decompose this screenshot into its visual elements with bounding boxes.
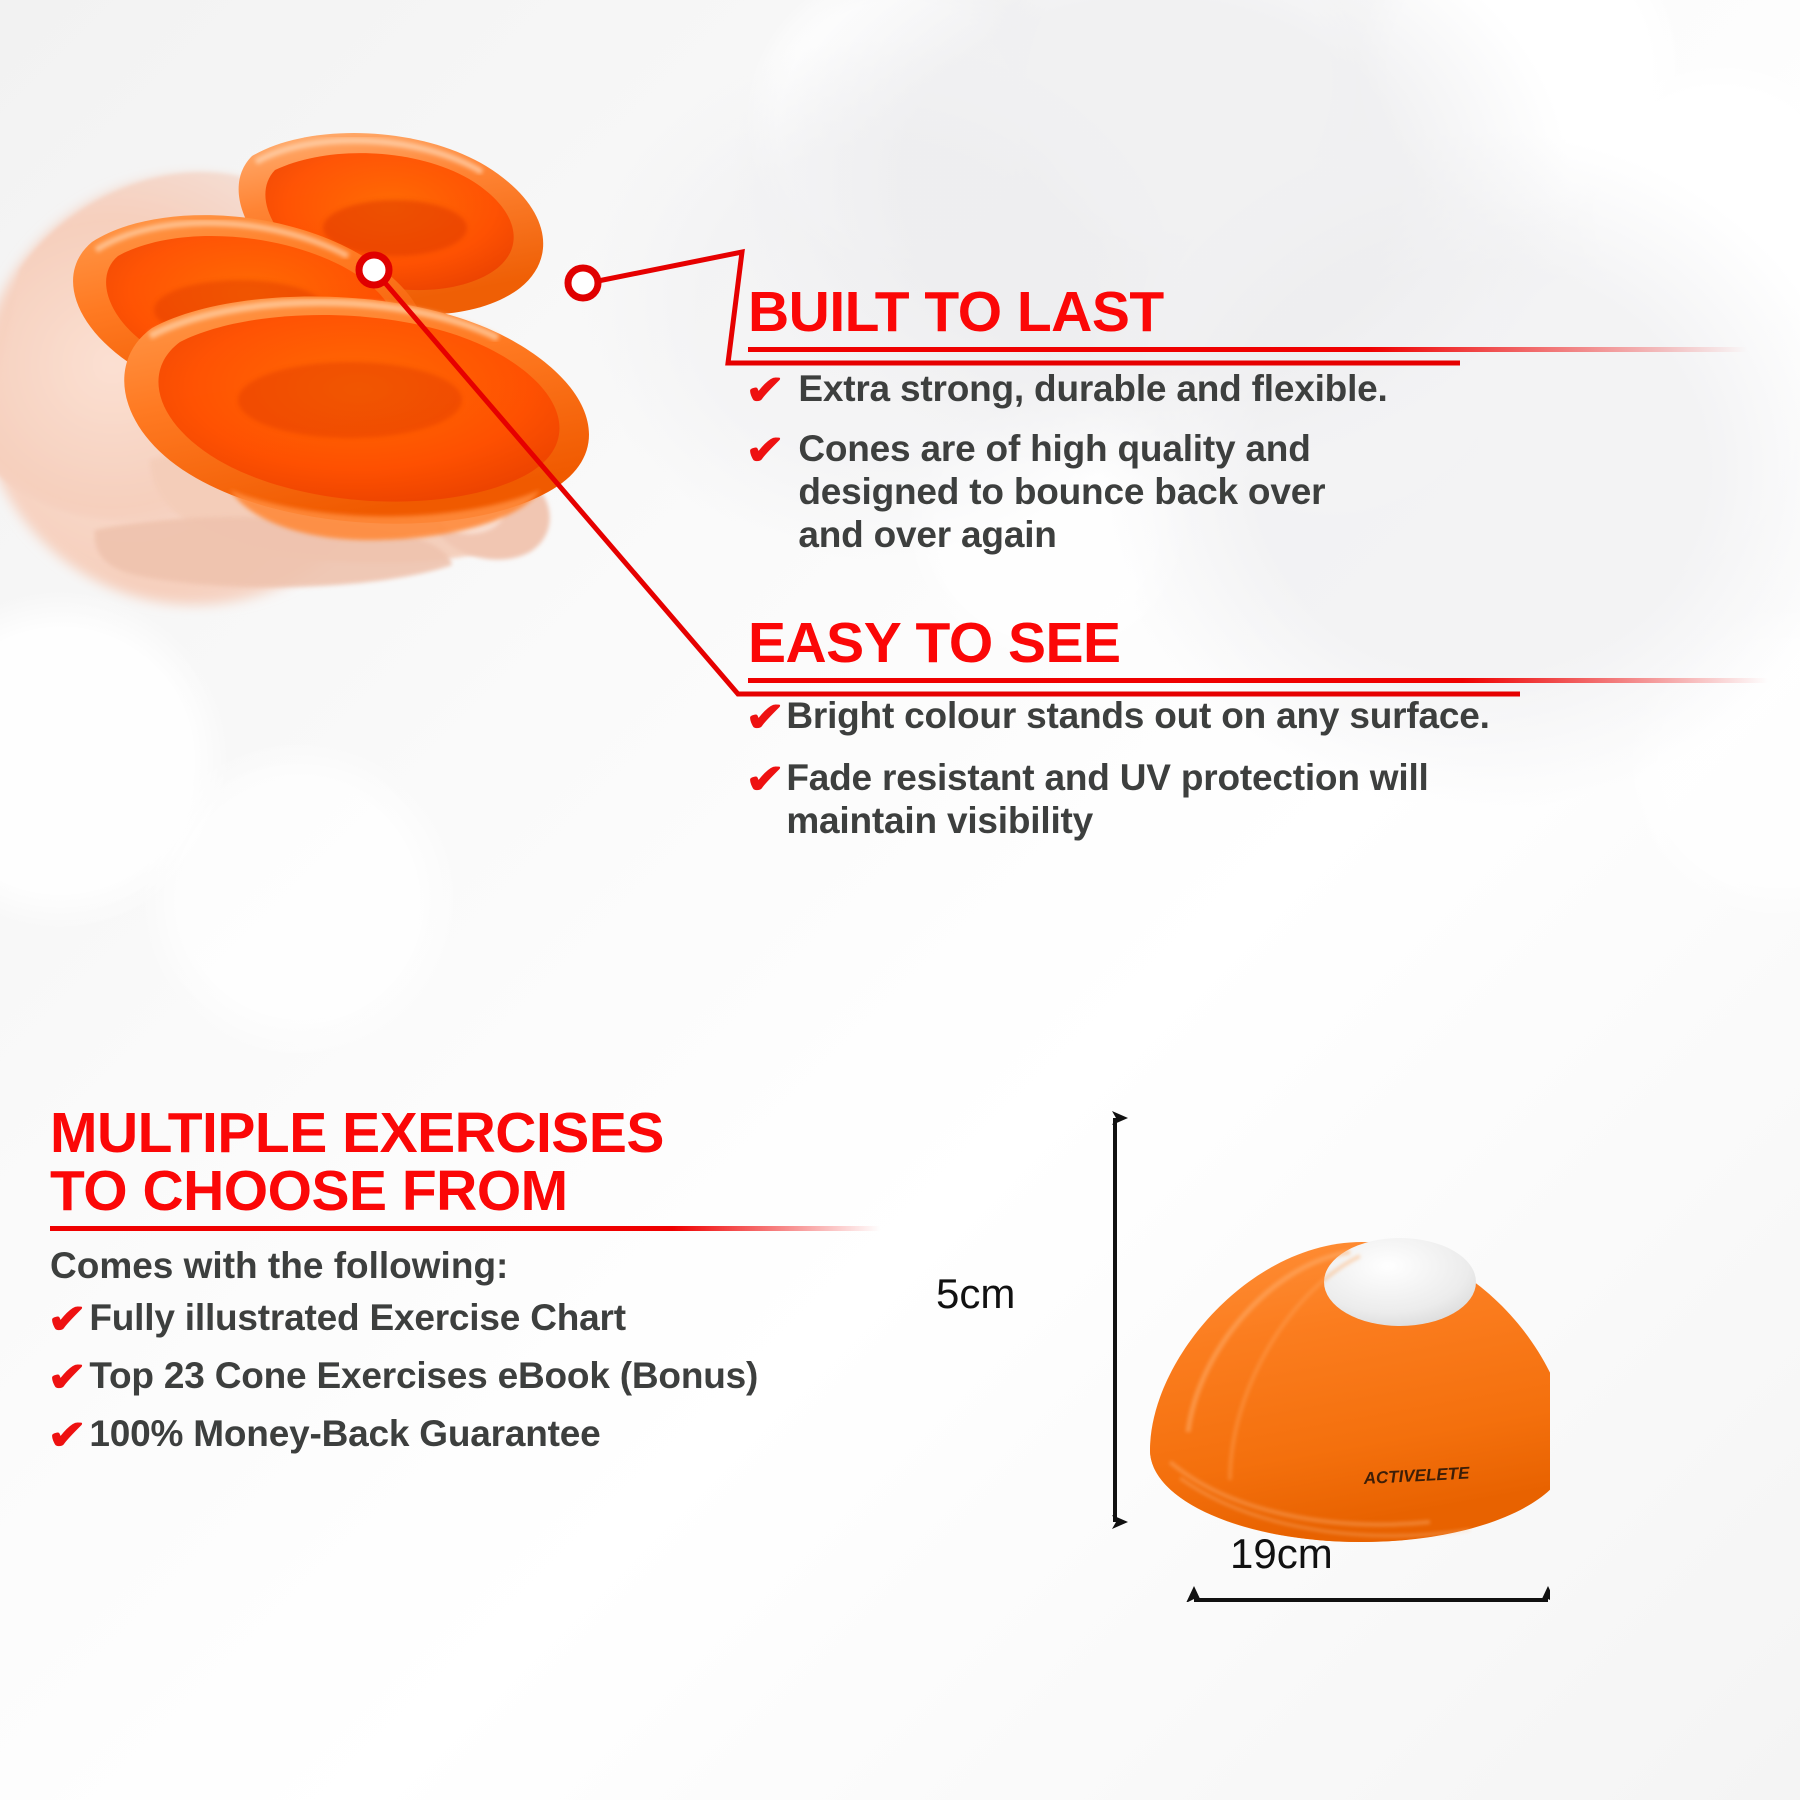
list-item-label: Fade resistant and UV protection will ma… — [786, 757, 1476, 843]
list-item: ✔ Extra strong, durable and flexible. — [748, 368, 1748, 414]
list-item: ✔ Bright colour stands out on any surfac… — [748, 695, 1768, 741]
list-item: ✔ Fully illustrated Exercise Chart — [50, 1297, 880, 1343]
list-item: ✔ Fade resistant and UV protection will … — [748, 757, 1768, 843]
width-dimension-label: 19cm — [1230, 1530, 1333, 1578]
height-dimension-label: 5cm — [936, 1270, 1015, 1318]
check-icon: ✔ — [47, 1297, 87, 1343]
list-item-label: Extra strong, durable and flexible. — [798, 368, 1387, 411]
heading-rule-built-to-last — [748, 347, 1748, 352]
product-photo-hand-squeezing-cones — [0, 60, 700, 620]
bullet-list-easy-to-see: ✔ Bright colour stands out on any surfac… — [748, 695, 1768, 843]
check-icon: ✔ — [745, 757, 785, 803]
list-item: ✔ Top 23 Cone Exercises eBook (Bonus) — [50, 1355, 880, 1401]
list-item-label: Top 23 Cone Exercises eBook (Bonus) — [89, 1355, 758, 1398]
check-icon: ✔ — [745, 695, 785, 741]
list-item-label: Bright colour stands out on any surface. — [786, 695, 1489, 738]
check-icon: ✔ — [47, 1355, 87, 1401]
check-icon: ✔ — [745, 428, 785, 474]
bullet-list-built-to-last: ✔ Extra strong, durable and flexible. ✔ … — [748, 368, 1748, 557]
orange-cone-illustration: ACTIVELETE — [1150, 1238, 1550, 1542]
cone-dimension-diagram: ACTIVELETE 5cm 19cm — [930, 1060, 1550, 1660]
check-icon: ✔ — [745, 368, 785, 414]
section-built-to-last: BUILT TO LAST ✔ Extra strong, durable an… — [748, 283, 1748, 571]
list-item: ✔ 100% Money-Back Guarantee — [50, 1413, 880, 1459]
heading-rule-multiple-exercises — [50, 1226, 880, 1231]
list-item-label: 100% Money-Back Guarantee — [89, 1413, 600, 1456]
heading-multiple-exercises-line2: TO CHOOSE FROM — [50, 1162, 880, 1220]
heading-built-to-last: BUILT TO LAST — [748, 283, 1748, 341]
list-item: ✔ Cones are of high quality and designed… — [748, 428, 1748, 557]
list-item-label: Fully illustrated Exercise Chart — [89, 1297, 625, 1340]
section-easy-to-see: EASY TO SEE ✔ Bright colour stands out o… — [748, 614, 1768, 859]
heading-easy-to-see: EASY TO SEE — [748, 614, 1768, 672]
section-multiple-exercises: MULTIPLE EXERCISES TO CHOOSE FROM Comes … — [50, 1104, 880, 1471]
list-item-label: Cones are of high quality and designed t… — [798, 428, 1383, 557]
bullet-list-multiple-exercises: ✔ Fully illustrated Exercise Chart ✔ Top… — [50, 1297, 880, 1459]
infographic-page: BUILT TO LAST ✔ Extra strong, durable an… — [0, 0, 1800, 1800]
comes-with-label: Comes with the following: — [50, 1245, 880, 1287]
heading-rule-easy-to-see — [748, 678, 1768, 683]
check-icon: ✔ — [47, 1413, 87, 1459]
heading-multiple-exercises-line1: MULTIPLE EXERCISES — [50, 1104, 880, 1162]
